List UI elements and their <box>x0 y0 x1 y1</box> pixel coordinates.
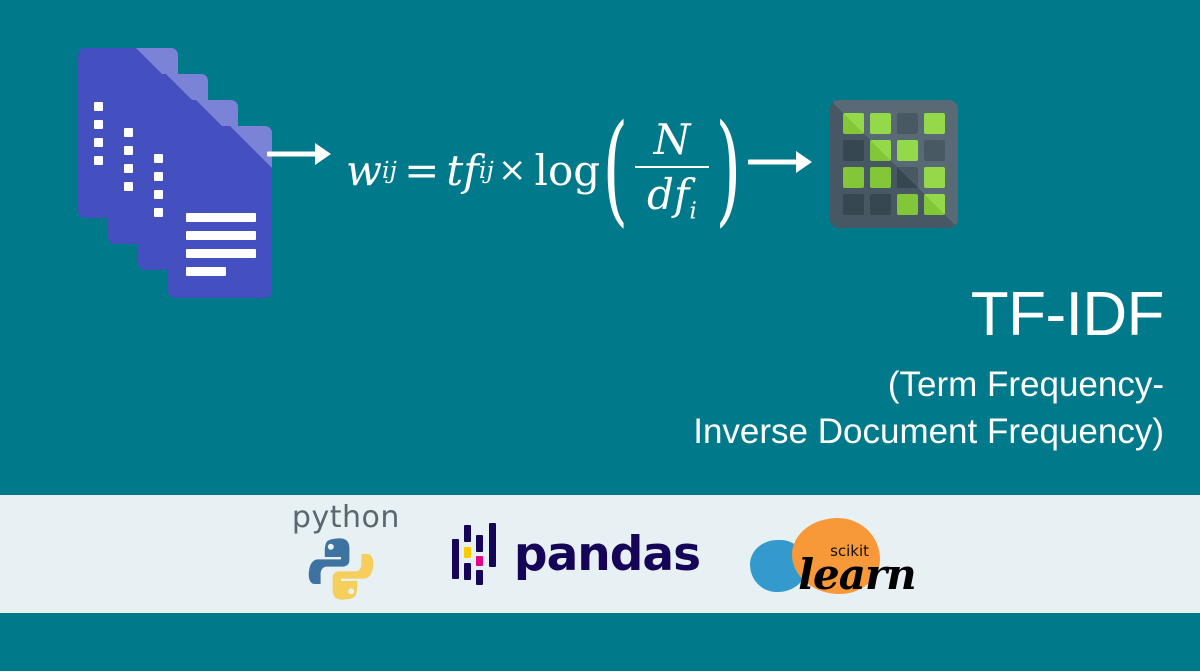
formula-denominator-subscript: i <box>689 197 697 225</box>
sklearn-learn-word: learn <box>798 550 916 599</box>
document-stack-icon <box>78 48 268 258</box>
formula-paren-close: ) <box>716 115 742 225</box>
bottom-strip <box>0 613 1200 671</box>
formula-log-function: log <box>535 146 601 195</box>
title-block: TF-IDF (Term Frequency- Inverse Document… <box>693 282 1164 456</box>
matrix-cell-r1-c1 <box>843 113 864 134</box>
matrix-cell-r3-c2 <box>870 167 891 188</box>
formula-denominator-symbol: df <box>647 170 689 219</box>
matrix-cell-r2-c2 <box>870 140 891 161</box>
matrix-cell-r4-c1 <box>843 194 864 215</box>
pandas-logo: pandas <box>452 519 700 589</box>
tfidf-infographic: wij = tfij × log ( N dfi ) TF-IDF (Term … <box>0 0 1200 671</box>
page-title: TF-IDF <box>693 282 1164 347</box>
matrix-cell-r3-c1 <box>843 167 864 188</box>
arrow-right-icon-1 <box>267 142 331 166</box>
document-sheet-4 <box>168 126 272 298</box>
document-text-lines <box>186 204 256 276</box>
arrow-head <box>315 143 331 165</box>
pandas-mark-icon <box>452 523 498 585</box>
document-bullets <box>124 128 133 200</box>
tfidf-matrix-icon <box>830 100 958 228</box>
matrix-cell-r2-c3 <box>897 140 918 161</box>
matrix-cell-r4-c3 <box>897 194 918 215</box>
formula-times-operator: × <box>498 150 527 190</box>
scikit-learn-logo: scikit learn <box>744 514 912 594</box>
arrow-right-icon-2 <box>748 150 812 174</box>
formula-paren-open: ( <box>603 115 629 225</box>
formula-tf-subscript: ij <box>479 156 494 184</box>
formula-equals: = <box>404 146 439 195</box>
document-bullets <box>154 154 163 226</box>
matrix-cell-r1-c3 <box>897 113 918 134</box>
arrow-shaft <box>267 152 319 157</box>
matrix-cell-r3-c4 <box>924 167 945 188</box>
formula-lhs-subscript: ij <box>382 156 397 184</box>
technology-logo-band: python pandas scikit learn <box>0 495 1200 613</box>
matrix-cell-r3-c3 <box>897 167 918 188</box>
formula-numerator: N <box>642 113 703 166</box>
formula-tf-symbol: tf <box>446 146 478 195</box>
tfidf-formula: wij = tfij × log ( N dfi ) <box>346 100 744 240</box>
formula-denominator: dfi <box>635 168 709 226</box>
python-logo: python <box>288 502 408 606</box>
matrix-cell-r1-c4 <box>924 113 945 134</box>
arrow-shaft <box>748 160 800 165</box>
page-subtitle: (Term Frequency- Inverse Document Freque… <box>693 361 1164 456</box>
python-wordmark: python <box>292 500 400 535</box>
formula-lhs-symbol: w <box>346 146 382 195</box>
matrix-grid <box>843 113 945 215</box>
arrow-head <box>796 151 812 173</box>
matrix-cell-r2-c1 <box>843 140 864 161</box>
document-bullets <box>94 102 103 174</box>
python-mark-icon <box>308 536 374 602</box>
matrix-cell-r2-c4 <box>924 140 945 161</box>
matrix-cell-r4-c4 <box>924 194 945 215</box>
matrix-cell-r4-c2 <box>870 194 891 215</box>
pandas-wordmark: pandas <box>514 527 700 582</box>
formula-fraction: N dfi <box>635 113 709 226</box>
matrix-cell-r1-c2 <box>870 113 891 134</box>
page-fold-corner <box>230 126 272 168</box>
